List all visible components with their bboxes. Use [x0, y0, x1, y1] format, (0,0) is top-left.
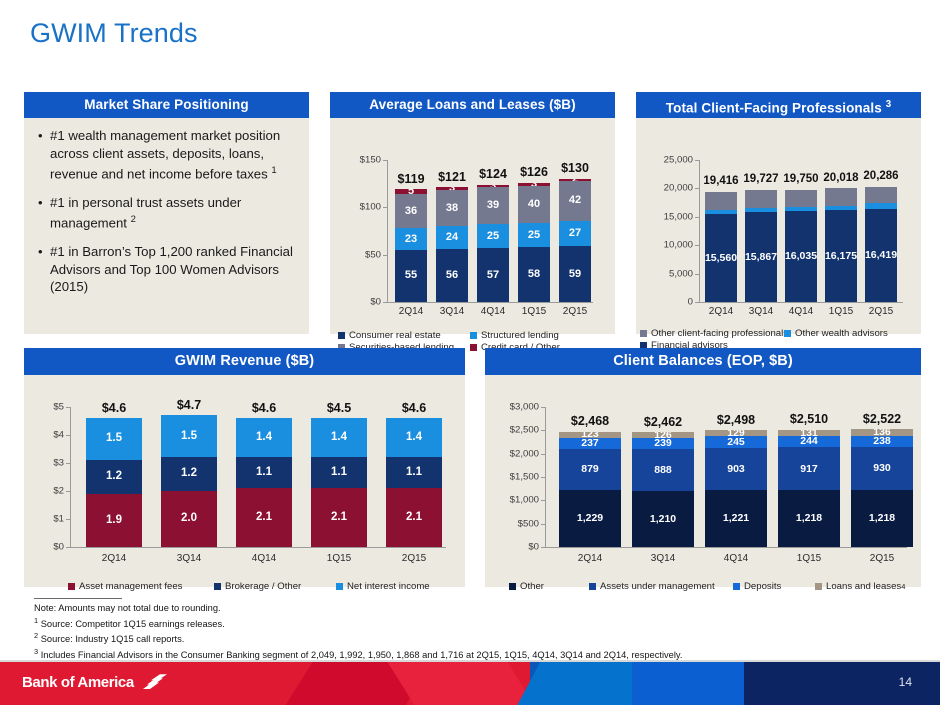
bar-segment-label: 1,229: [577, 513, 603, 524]
bank-of-america-flag-icon: [141, 672, 171, 692]
bar-segment: 2.1: [386, 488, 442, 547]
bar-segment-label: 129: [727, 430, 745, 436]
bar-segment: 3: [477, 185, 509, 188]
bar-total-label: $126: [520, 165, 548, 179]
bar-segment-label: 930: [873, 463, 891, 474]
bar-segment: 1.4: [311, 418, 367, 457]
bar-segment: 131: [778, 430, 840, 436]
bullet-footnote-ref: 2: [131, 214, 136, 225]
chart-legend: OtherAssets under managementDepositsLoan…: [485, 581, 921, 593]
bar-total-label: $4.7: [177, 398, 201, 412]
bar-segment-label: 24: [446, 232, 458, 243]
bar-segment: 36: [395, 194, 427, 228]
client-balances-panel: Client Balances (EOP, $B) $0$500$1,000$1…: [485, 348, 921, 587]
bar-segment-label: 3: [449, 187, 455, 190]
x-axis-tick-label: 2Q15: [402, 553, 426, 564]
bar-segment-label: 237: [581, 438, 599, 449]
legend-label: Consumer real estate: [349, 330, 441, 341]
bar-segment: 1.1: [311, 457, 367, 488]
y-axis-tick-mark: [541, 407, 545, 408]
bar-column: 2.01.21.5$4.7: [161, 407, 217, 547]
x-axis-tick-label: 2Q14: [399, 306, 423, 317]
bar-total-label: $4.6: [252, 401, 276, 415]
bar-segment-label: 57: [487, 270, 499, 281]
bar-segment-label: 40: [528, 199, 540, 210]
bar-segment: 917: [778, 447, 840, 490]
bar-segment: [785, 207, 817, 211]
bar-segment: 58: [518, 247, 550, 302]
bar-column: 1,210888239126$2,462: [632, 407, 694, 547]
legend-swatch-icon: [733, 583, 740, 590]
bar-segment-label: 244: [800, 436, 818, 447]
bar-segment-label: 2.1: [256, 512, 272, 524]
legend-swatch-icon: [338, 332, 345, 339]
legend-item: Assets under management: [589, 581, 715, 592]
bar-segment: [705, 210, 737, 213]
bar-segment-label: 39: [487, 200, 499, 211]
bar-segment: 1.2: [161, 457, 217, 491]
legend-label: Other: [520, 581, 544, 592]
y-axis-line: [699, 160, 700, 302]
bar-segment: 39: [477, 187, 509, 224]
legend-swatch-icon: [214, 583, 221, 590]
legend-label: Deposits: [744, 581, 781, 592]
y-axis-tick-mark: [695, 160, 699, 161]
bar-column: 5927422$130: [559, 160, 591, 302]
bar-segment-label: 2.0: [181, 513, 197, 525]
footnote-marker: 2: [34, 631, 38, 640]
y-axis-tick-mark: [383, 255, 387, 256]
footnote-divider: [34, 598, 122, 599]
bar-total-label: $4.6: [102, 401, 126, 415]
bar-total-label: $4.6: [402, 401, 426, 415]
y-axis-tick-mark: [66, 519, 70, 520]
bar-segment: 1,218: [778, 490, 840, 547]
client-facing-professionals-heading: Total Client-Facing Professionals 3: [636, 92, 921, 118]
bar-segment: 16,035: [785, 211, 817, 302]
bar-total-label: $2,462: [644, 415, 682, 429]
y-axis-tick-label: 15,000: [636, 211, 693, 222]
legend-swatch-icon: [509, 583, 516, 590]
bar-segment-label: 25: [487, 231, 499, 242]
y-axis-tick-mark: [66, 547, 70, 548]
footnote-marker: 3: [34, 647, 38, 656]
x-axis-tick-label: 4Q14: [481, 306, 505, 317]
footer-blue-band-b: [632, 660, 744, 705]
y-axis-tick-label: $500: [485, 518, 539, 529]
y-axis-tick-label: $100: [330, 202, 381, 213]
bar-segment: 239: [632, 438, 694, 449]
bar-segment: 23: [395, 228, 427, 250]
bar-segment-label: 16,175: [825, 251, 857, 262]
slide-footer: Bank of America 14: [0, 660, 940, 705]
bar-segment: 3: [436, 187, 468, 190]
bar-segment-label: 1,218: [796, 513, 822, 524]
bar-segment-label: 15,867: [745, 252, 777, 263]
bar-segment-label: 1.4: [331, 432, 347, 444]
bar-column: 1,218930238136$2,522: [851, 407, 913, 547]
bank-of-america-wordmark: Bank of America: [22, 674, 134, 691]
bullet-footnote-ref: 1: [271, 165, 276, 176]
bar-segment-label: 59: [569, 269, 581, 280]
legend-swatch-icon: [815, 583, 822, 590]
bar-segment: 15,560: [705, 214, 737, 302]
y-axis-tick-label: $150: [330, 155, 381, 166]
bar-segment-label: 245: [727, 437, 745, 448]
bar-segment-label: 1.2: [181, 468, 197, 480]
market-share-bullet-list: •#1 wealth management market position ac…: [24, 118, 309, 296]
x-axis-tick-label: 4Q14: [252, 553, 276, 564]
legend-item: Consumer real estate: [338, 330, 441, 341]
bar-segment: [745, 208, 777, 212]
bar-segment: [785, 190, 817, 207]
bar-column: 5523365$119: [395, 160, 427, 302]
bar-segment: 888: [632, 449, 694, 490]
legend-label: Other wealth advisors: [795, 328, 888, 339]
bar-column: 1,221903245129$2,498: [705, 407, 767, 547]
bullet-dot-icon: •: [38, 243, 50, 296]
bar-segment: 903: [705, 448, 767, 490]
total-client-facing-professionals-panel: Total Client-Facing Professionals 3 05,0…: [636, 92, 921, 334]
bar-segment: 1.4: [386, 418, 442, 457]
bar-segment: [745, 190, 777, 208]
legend-label: Structured lending: [481, 330, 559, 341]
x-axis-tick-label: 2Q15: [870, 553, 894, 564]
legend-label: Net interest income: [347, 581, 430, 592]
bar-total-label: 19,727: [743, 173, 778, 185]
bar-segment-label: 1.1: [331, 467, 347, 479]
bar-segment: 25: [518, 223, 550, 247]
bar-segment: 136: [851, 429, 913, 435]
bar-segment: 1.4: [236, 418, 292, 457]
x-axis-line: [545, 547, 907, 548]
bar-segment-label: 5: [408, 189, 414, 194]
bar-segment-label: 3: [490, 185, 496, 188]
bar-segment: 2: [559, 179, 591, 181]
market-share-panel: Market Share Positioning •#1 wealth mana…: [24, 92, 309, 334]
x-axis-line: [70, 547, 446, 548]
bar-segment-label: 16,419: [865, 250, 897, 261]
bar-total-label: $130: [561, 161, 589, 175]
bar-segment: 2.1: [311, 488, 367, 547]
y-axis-tick-label: $3: [24, 458, 64, 469]
y-axis-tick-mark: [383, 302, 387, 303]
bar-column: 2.11.11.4$4.6: [236, 407, 292, 547]
legend-item: Structured lending: [470, 330, 559, 341]
bar-total-label: 20,018: [823, 172, 858, 184]
bar-segment: 1.1: [236, 457, 292, 488]
bar-segment-label: 879: [581, 464, 599, 475]
x-axis-tick-label: 2Q15: [869, 306, 893, 317]
y-axis-tick-mark: [695, 302, 699, 303]
bar-segment-label: 903: [727, 464, 745, 475]
bar-segment-label: 888: [654, 465, 672, 476]
bar-segment: 38: [436, 190, 468, 226]
x-axis-tick-label: 2Q15: [563, 306, 587, 317]
x-axis-tick-label: 1Q15: [797, 553, 821, 564]
legend-label: Brokerage / Other: [225, 581, 301, 592]
bar-segment: 40: [518, 186, 550, 224]
bar-segment-label: 55: [405, 270, 417, 281]
bar-segment: 930: [851, 447, 913, 490]
bar-column: 15,56019,416: [705, 160, 737, 302]
bar-segment-label: 42: [569, 195, 581, 206]
bar-segment: 879: [559, 449, 621, 490]
bar-segment: 56: [436, 249, 468, 302]
y-axis-line: [545, 407, 546, 547]
y-axis-tick-label: $0: [24, 542, 64, 553]
bar-segment-label: 1,210: [650, 514, 676, 525]
bar-total-label: $124: [479, 167, 507, 181]
x-axis-tick-label: 2Q14: [102, 553, 126, 564]
bar-segment: 16,419: [865, 209, 897, 302]
bar-segment: 126: [632, 432, 694, 438]
bar-segment-label: 56: [446, 270, 458, 281]
bullet-text: #1 in personal trust assets under manage…: [50, 194, 297, 232]
bar-column: 2.11.11.4$4.5: [311, 407, 367, 547]
x-axis-tick-label: 3Q14: [440, 306, 464, 317]
bar-column: 2.11.11.4$4.6: [386, 407, 442, 547]
bar-total-label: $2,522: [863, 412, 901, 426]
bar-column: 1,218917244131$2,510: [778, 407, 840, 547]
bar-segment: 2.1: [236, 488, 292, 547]
bullet-dot-icon: •: [38, 127, 50, 183]
x-axis-tick-label: 2Q14: [709, 306, 733, 317]
bar-column: 5825403$126: [518, 160, 550, 302]
x-axis-line: [387, 302, 593, 303]
gwim-revenue-heading: GWIM Revenue ($B): [24, 348, 465, 375]
bar-segment-label: 2.1: [331, 512, 347, 524]
bar-segment: 15,867: [745, 212, 777, 302]
bar-segment-label: 27: [569, 228, 581, 239]
legend-item: Loans and leases 4: [815, 581, 905, 592]
footnote-marker: 1: [34, 616, 38, 625]
bank-of-america-logo: Bank of America: [22, 672, 171, 692]
bar-segment: [705, 192, 737, 210]
bar-segment: [825, 188, 857, 205]
bar-segment-label: 58: [528, 269, 540, 280]
bar-segment-label: 1.4: [256, 432, 272, 444]
y-axis-tick-mark: [695, 274, 699, 275]
bar-column: 1.91.21.5$4.6: [86, 407, 142, 547]
legend-label: Other client-facing professionals: [651, 328, 788, 339]
bar-total-label: $119: [397, 172, 424, 186]
bar-segment: 1.9: [86, 494, 142, 547]
y-axis-tick-mark: [66, 407, 70, 408]
market-share-heading: Market Share Positioning: [24, 92, 309, 118]
legend-label: Asset management fees: [79, 581, 182, 592]
bar-total-label: $2,498: [717, 413, 755, 427]
bar-segment-label: 126: [654, 432, 672, 438]
bar-segment-label: 1,221: [723, 513, 749, 524]
bar-segment-label: 2.1: [406, 512, 422, 524]
y-axis-tick-label: $1,000: [485, 495, 539, 506]
bar-column: 5624383$121: [436, 160, 468, 302]
bar-total-label: $121: [438, 170, 466, 184]
legend-swatch-icon: [68, 583, 75, 590]
legend-swatch-icon: [784, 330, 791, 337]
bar-total-label: $2,468: [571, 414, 609, 428]
bar-segment-label: 2: [572, 179, 578, 181]
bullet-text: #1 in Barron’s Top 1,200 ranked Financia…: [50, 243, 297, 296]
x-axis-line: [699, 302, 903, 303]
x-axis-tick-label: 4Q14: [724, 553, 748, 564]
bar-segment: [825, 206, 857, 211]
y-axis-tick-label: $2: [24, 486, 64, 497]
bar-segment-label: 3: [531, 183, 537, 186]
legend-label: Assets under management: [600, 581, 715, 592]
bar-segment-label: 1.2: [106, 471, 122, 483]
legend-label: Loans and leases: [826, 581, 901, 592]
bar-column: 16,17520,018: [825, 160, 857, 302]
x-axis-tick-label: 2Q14: [578, 553, 602, 564]
legend-item: Net interest income: [336, 581, 430, 592]
bar-segment-label: 15,560: [705, 253, 737, 264]
bar-segment-label: 917: [800, 464, 818, 475]
y-axis-tick-mark: [383, 160, 387, 161]
y-axis-tick-label: $1: [24, 514, 64, 525]
average-loans-and-leases-panel: Average Loans and Leases ($B) $0$50$100$…: [330, 92, 615, 334]
bar-segment-label: 123: [581, 432, 599, 438]
y-axis-tick-label: $0: [330, 297, 381, 308]
bar-segment: 1,221: [705, 490, 767, 547]
bar-segment-label: 136: [873, 429, 891, 435]
bar-segment-label: 1.9: [106, 515, 122, 527]
y-axis-tick-label: 25,000: [636, 155, 693, 166]
y-axis-tick-mark: [695, 188, 699, 189]
x-axis-tick-label: 1Q15: [829, 306, 853, 317]
bar-segment: 1,218: [851, 490, 913, 547]
bar-column: 16,41920,286: [865, 160, 897, 302]
y-axis-tick-label: $50: [330, 249, 381, 260]
bar-segment: 1,229: [559, 490, 621, 547]
bar-segment: 1.2: [86, 460, 142, 494]
bar-segment: 245: [705, 436, 767, 447]
bar-segment: 27: [559, 221, 591, 247]
bar-segment-label: 239: [654, 438, 672, 449]
bar-total-label: 19,750: [783, 173, 818, 185]
bar-segment: 59: [559, 246, 591, 302]
x-axis-tick-label: 1Q15: [522, 306, 546, 317]
legend-swatch-icon: [470, 344, 477, 351]
legend-item: Other: [509, 581, 544, 592]
bar-segment: 57: [477, 248, 509, 302]
bar-segment-label: 238: [873, 436, 891, 447]
legend-item: Other client-facing professionals: [640, 328, 788, 339]
bar-segment-label: 23: [405, 234, 417, 245]
bar-segment-label: 36: [405, 206, 417, 217]
y-axis-tick-label: $5: [24, 402, 64, 413]
y-axis-tick-label: $2,000: [485, 448, 539, 459]
page-number: 14: [899, 675, 912, 689]
bar-segment-label: 25: [528, 230, 540, 241]
bar-total-label: 20,286: [863, 170, 898, 182]
legend-item: Other wealth advisors: [784, 328, 888, 339]
bar-segment-label: 16,035: [785, 251, 817, 262]
bar-total-label: $4.5: [327, 401, 351, 415]
y-axis-tick-label: $2,500: [485, 425, 539, 436]
legend-item: Deposits: [733, 581, 781, 592]
bar-segment-label: 38: [446, 203, 458, 214]
y-axis-tick-label: 5,000: [636, 268, 693, 279]
y-axis-tick-label: 0: [636, 297, 693, 308]
bar-segment: 3: [518, 183, 550, 186]
y-axis-tick-label: 20,000: [636, 183, 693, 194]
legend-swatch-icon: [640, 330, 647, 337]
legend-footnote-ref: 4: [901, 582, 905, 591]
y-axis-tick-label: $0: [485, 542, 539, 553]
legend-item: Asset management fees: [68, 581, 182, 592]
bar-column: 1,229879237123$2,468: [559, 407, 621, 547]
bar-segment-label: 1.1: [406, 467, 422, 479]
y-axis-tick-mark: [383, 207, 387, 208]
footnote-note: Note: Amounts may not total due to round…: [34, 603, 714, 615]
bullet-text: #1 wealth management market position acr…: [50, 127, 297, 183]
bar-segment: 238: [851, 436, 913, 447]
x-axis-tick-label: 3Q14: [749, 306, 773, 317]
y-axis-tick-label: 10,000: [636, 240, 693, 251]
bar-segment: 2.0: [161, 491, 217, 547]
y-axis-tick-mark: [541, 524, 545, 525]
bar-column: 15,86719,727: [745, 160, 777, 302]
legend-swatch-icon: [470, 332, 477, 339]
y-axis-tick-mark: [541, 500, 545, 501]
chart-legend: Asset management feesBrokerage / OtherNe…: [24, 581, 465, 593]
y-axis-tick-mark: [66, 463, 70, 464]
bar-segment: 5: [395, 189, 427, 194]
y-axis-tick-label: $1,500: [485, 472, 539, 483]
x-axis-tick-label: 4Q14: [789, 306, 813, 317]
bar-segment: 123: [559, 432, 621, 438]
bar-segment-label: 1,218: [869, 513, 895, 524]
y-axis-tick-mark: [541, 477, 545, 478]
y-axis-line: [387, 160, 388, 302]
average-loans-heading: Average Loans and Leases ($B): [330, 92, 615, 118]
legend-item: Brokerage / Other: [214, 581, 301, 592]
bar-segment: 129: [705, 430, 767, 436]
footnote-item: 1 Source: Competitor 1Q15 earnings relea…: [34, 615, 714, 631]
bar-segment-label: 1.5: [181, 431, 197, 443]
y-axis-tick-label: $3,000: [485, 402, 539, 413]
x-axis-tick-label: 3Q14: [651, 553, 675, 564]
market-share-bullet: •#1 in personal trust assets under manag…: [38, 194, 297, 232]
bar-segment-label: 131: [800, 430, 818, 436]
footnote-item: 2 Source: Industry 1Q15 call reports.: [34, 630, 714, 646]
y-axis-line: [70, 407, 71, 547]
gwim-revenue-panel: GWIM Revenue ($B) $0$1$2$3$4$51.91.21.5$…: [24, 348, 465, 587]
bar-segment: 24: [436, 226, 468, 249]
bar-segment-label: 1.4: [406, 432, 422, 444]
heading-footnote-ref: 3: [886, 99, 892, 110]
y-axis-tick-mark: [541, 547, 545, 548]
market-share-bullet: •#1 wealth management market position ac…: [38, 127, 297, 183]
bar-segment: 16,175: [825, 210, 857, 302]
bar-segment: 42: [559, 181, 591, 221]
legend-swatch-icon: [336, 583, 343, 590]
bar-total-label: 19,416: [703, 175, 738, 187]
bullet-dot-icon: •: [38, 194, 50, 232]
bar-segment: 25: [477, 224, 509, 248]
legend-swatch-icon: [589, 583, 596, 590]
y-axis-tick-mark: [695, 217, 699, 218]
x-axis-tick-label: 3Q14: [177, 553, 201, 564]
bar-segment: [865, 203, 897, 209]
bar-segment: 1.1: [386, 457, 442, 488]
bar-segment: 1.5: [86, 418, 142, 460]
bar-segment-label: 1.1: [256, 467, 272, 479]
y-axis-tick-mark: [695, 245, 699, 246]
bar-total-label: $2,510: [790, 412, 828, 426]
